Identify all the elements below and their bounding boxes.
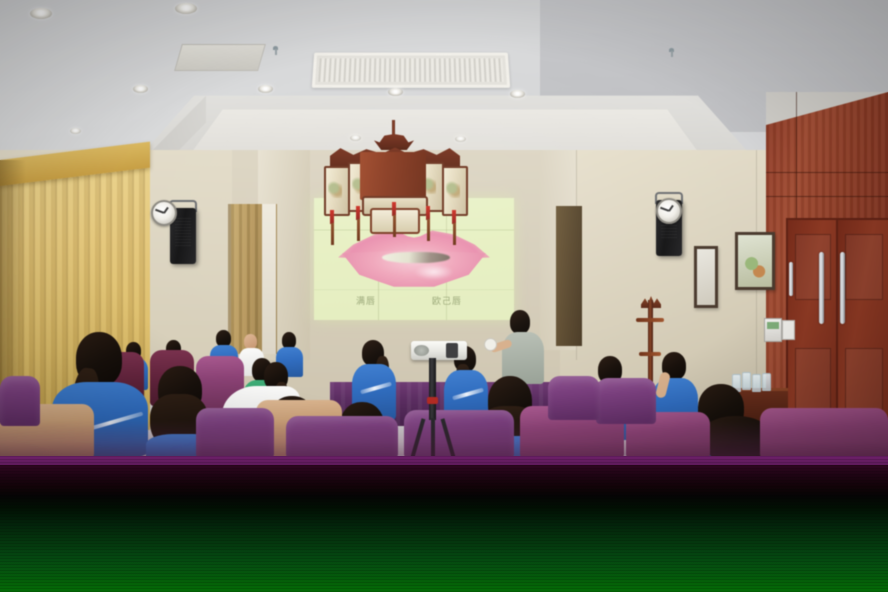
lips-highlight bbox=[414, 264, 454, 280]
downlight-icon bbox=[350, 135, 361, 141]
wood-seam bbox=[766, 196, 888, 197]
lantern-shade bbox=[442, 166, 468, 216]
downlight-icon bbox=[258, 85, 273, 93]
lantern-shade bbox=[324, 166, 350, 216]
clock-icon bbox=[151, 200, 177, 226]
framed-picture bbox=[694, 246, 718, 308]
door-panel bbox=[795, 234, 831, 300]
projector bbox=[411, 341, 467, 360]
lips-opening bbox=[382, 252, 450, 263]
downlight-icon bbox=[510, 90, 525, 98]
presenter-head bbox=[510, 310, 530, 334]
photograph: 满唇 欧己唇 bbox=[0, 0, 888, 456]
light-switch-icon[interactable] bbox=[782, 320, 795, 340]
lips-graphic bbox=[338, 228, 490, 288]
wood-seam bbox=[796, 92, 797, 218]
water-bottle bbox=[752, 374, 761, 392]
side-doorway-right[interactable] bbox=[556, 206, 582, 346]
downlight-icon bbox=[388, 88, 403, 96]
chair bbox=[0, 376, 40, 426]
downlight-icon bbox=[133, 85, 148, 93]
render-artifact-band bbox=[0, 456, 888, 592]
door-handle-icon[interactable] bbox=[789, 262, 793, 296]
water-bottle bbox=[742, 372, 751, 390]
wood-seam bbox=[766, 172, 888, 173]
coatrack-arm bbox=[636, 318, 664, 322]
artifact-purple-band bbox=[0, 456, 888, 465]
ceiling-access-panel bbox=[174, 44, 266, 71]
door-handle-icon[interactable] bbox=[819, 252, 824, 324]
downlight-icon bbox=[175, 3, 197, 14]
water-bottle bbox=[762, 373, 771, 391]
thermostat-icon[interactable] bbox=[764, 318, 782, 342]
slide-label-left: 满唇 bbox=[356, 294, 376, 307]
front-row-shadow bbox=[0, 420, 888, 456]
sprinkler-icon bbox=[272, 46, 279, 55]
clock-icon bbox=[656, 198, 682, 224]
downlight-icon bbox=[30, 8, 52, 19]
framed-picture bbox=[735, 232, 775, 290]
door-handle-icon[interactable] bbox=[840, 252, 845, 324]
hvac-diffuser-icon bbox=[312, 53, 510, 88]
chair bbox=[596, 378, 656, 424]
tripod-column bbox=[429, 358, 436, 420]
projector-rear bbox=[446, 343, 458, 358]
door-panel bbox=[845, 234, 883, 300]
doorway-opening bbox=[262, 204, 276, 354]
presenter-held-object bbox=[484, 338, 497, 351]
tripod-lock-knob bbox=[427, 397, 438, 404]
coatrack-arm bbox=[639, 352, 661, 356]
downlight-icon bbox=[455, 136, 466, 142]
downlight-icon bbox=[70, 128, 81, 134]
chandelier-body bbox=[360, 152, 426, 200]
head bbox=[244, 334, 257, 349]
artifact-gradient bbox=[0, 465, 888, 592]
screenshot-root: 满唇 欧己唇 bbox=[0, 0, 888, 592]
chair bbox=[548, 376, 600, 420]
sprinkler-icon bbox=[668, 48, 675, 57]
slide-label-right: 欧己唇 bbox=[432, 294, 462, 307]
